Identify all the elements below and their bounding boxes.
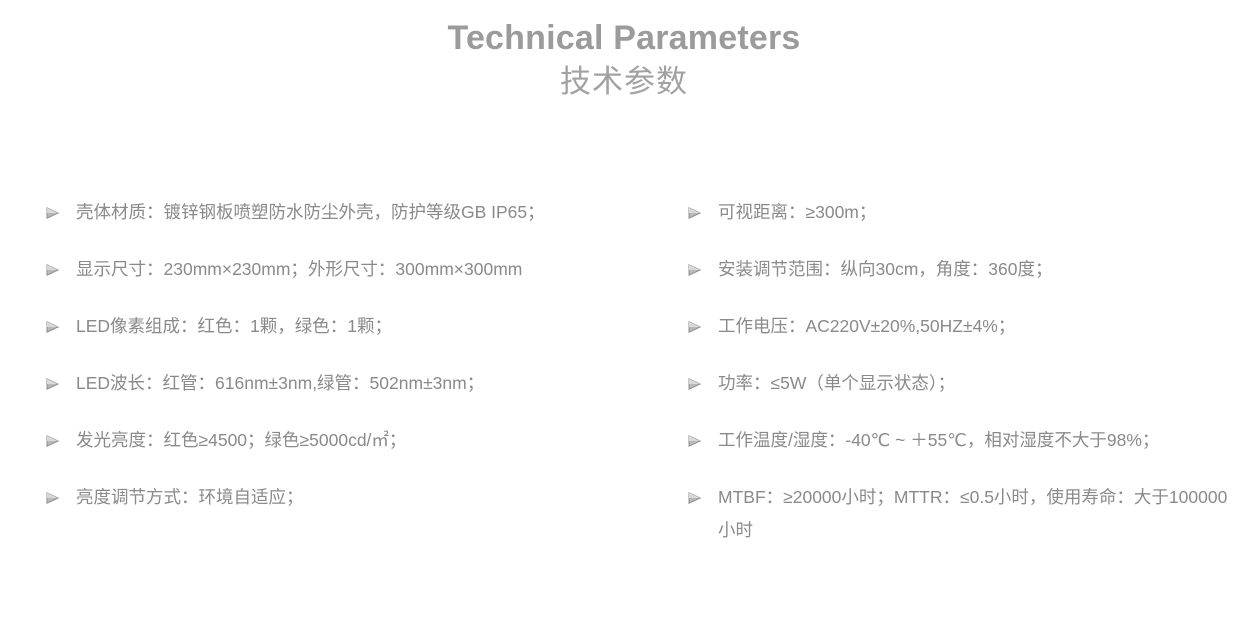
arrowhead-right-icon [46, 481, 68, 504]
list-item-label: 工作电压：AC220V±20%,50HZ±4%； [718, 310, 1240, 343]
list-item: 壳体材质：镀锌钢板喷塑防水防尘外壳，防护等级GB IP65； [46, 196, 666, 229]
list-item-label: MTBF：≥20000小时；MTTR：≤0.5小时，使用寿命：大于100000小… [718, 481, 1240, 547]
list-item-label: 发光亮度：红色≥4500；绿色≥5000cd/㎡； [76, 424, 666, 457]
list-item: 显示尺寸：230mm×230mm；外形尺寸：300mm×300mm [46, 253, 666, 286]
page-title-english: Technical Parameters [0, 16, 1248, 60]
arrowhead-right-icon [688, 253, 710, 276]
spec-list-left: 壳体材质：镀锌钢板喷塑防水防尘外壳，防护等级GB IP65； 显示尺寸：230m… [46, 196, 666, 538]
arrowhead-right-icon [688, 481, 710, 504]
list-item: LED波长：红管：616nm±3nm,绿管：502nm±3nm； [46, 367, 666, 400]
list-item: 安装调节范围：纵向30cm，角度：360度； [688, 253, 1240, 286]
list-item: MTBF：≥20000小时；MTTR：≤0.5小时，使用寿命：大于100000小… [688, 481, 1240, 547]
list-item-label: 安装调节范围：纵向30cm，角度：360度； [718, 253, 1240, 286]
list-item-label: 亮度调节方式：环境自适应； [76, 481, 666, 514]
page-heading: Technical Parameters 技术参数 [0, 16, 1248, 104]
arrowhead-right-icon [46, 196, 68, 219]
list-item: 发光亮度：红色≥4500；绿色≥5000cd/㎡； [46, 424, 666, 457]
arrowhead-right-icon [688, 310, 710, 333]
spec-list-right: 可视距离：≥300m； 安装调节范围：纵向30cm，角度：360度； [688, 196, 1240, 571]
arrowhead-right-icon [688, 424, 710, 447]
list-item: 工作温度/湿度：-40℃ ~ ＋55℃，相对湿度不大于98%； [688, 424, 1240, 457]
list-item: 工作电压：AC220V±20%,50HZ±4%； [688, 310, 1240, 343]
technical-parameters-page: Technical Parameters 技术参数 壳体材质：镀锌钢板喷塑防水防… [0, 0, 1248, 640]
list-item: 可视距离：≥300m； [688, 196, 1240, 229]
list-item-label: 显示尺寸：230mm×230mm；外形尺寸：300mm×300mm [76, 253, 666, 286]
arrowhead-right-icon [688, 367, 710, 390]
arrowhead-right-icon [46, 310, 68, 333]
list-item: 亮度调节方式：环境自适应； [46, 481, 666, 514]
list-item-label: 壳体材质：镀锌钢板喷塑防水防尘外壳，防护等级GB IP65； [76, 196, 666, 229]
list-item-label: LED波长：红管：616nm±3nm,绿管：502nm±3nm； [76, 367, 666, 400]
list-item-label: 可视距离：≥300m； [718, 196, 1240, 229]
list-item-label: 功率：≤5W（单个显示状态）； [718, 367, 1240, 400]
list-item: 功率：≤5W（单个显示状态）； [688, 367, 1240, 400]
spec-columns: 壳体材质：镀锌钢板喷塑防水防尘外壳，防护等级GB IP65； 显示尺寸：230m… [0, 196, 1248, 596]
arrowhead-right-icon [46, 367, 68, 390]
list-item-label: 工作温度/湿度：-40℃ ~ ＋55℃，相对湿度不大于98%； [718, 424, 1240, 457]
list-item-label: LED像素组成：红色：1颗，绿色：1颗； [76, 310, 666, 343]
arrowhead-right-icon [46, 424, 68, 447]
arrowhead-right-icon [688, 196, 710, 219]
arrowhead-right-icon [46, 253, 68, 276]
page-title-chinese: 技术参数 [0, 60, 1248, 104]
list-item: LED像素组成：红色：1颗，绿色：1颗； [46, 310, 666, 343]
